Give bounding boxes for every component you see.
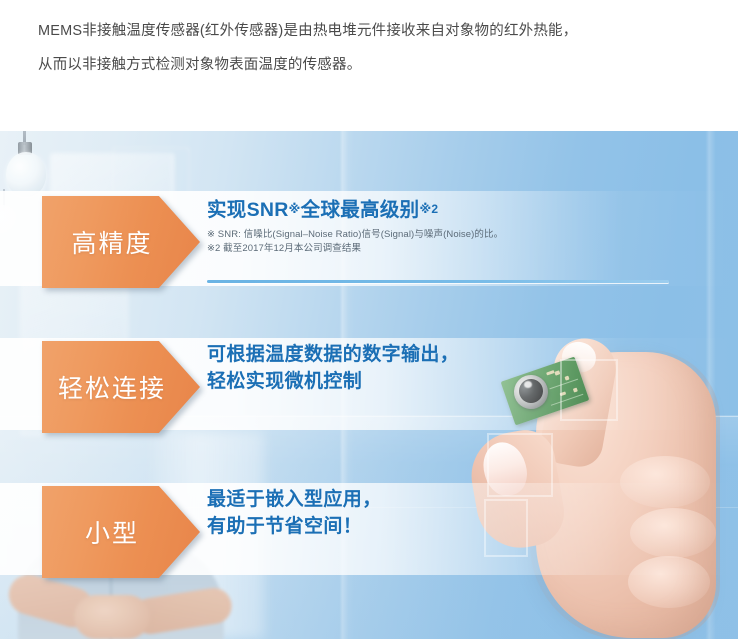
feature-row-compact: 小型 最适于嵌入型应用， 有助于节省空间！ [0, 486, 738, 578]
chevron-shape: 轻松连接 [42, 341, 200, 433]
feature-body-compact: 最适于嵌入型应用， 有助于节省空间！ [207, 486, 707, 578]
feature-row-high-accuracy: 高精度 实现SNR※全球最高级别※2 ※ SNR: 信噪比(Signal–Noi… [0, 196, 738, 288]
feature-title-line-1: 最适于嵌入型应用， [207, 486, 707, 513]
feature-badge-label: 小型 [85, 514, 157, 550]
feature-footnotes: ※ SNR: 信噪比(Signal–Noise Ratio)信号(Signal)… [207, 228, 707, 256]
intro-line-2: 从而以非接触方式检测对象物表面温度的传感器。 [38, 48, 702, 82]
footnote-mark-2: ※2 [419, 202, 438, 216]
feature-title-mid: 全球最高级别 [301, 199, 420, 221]
feature-body-easy-connection: 可根据温度数据的数字输出， 轻松实现微机控制 [207, 341, 707, 433]
chevron-shape: 高精度 [42, 196, 200, 288]
feature-divider [207, 280, 669, 283]
feature-title-main: 实现SNR [207, 199, 289, 221]
footnote-line: ※ SNR: 信噪比(Signal–Noise Ratio)信号(Signal)… [207, 228, 707, 242]
feature-badge-label: 高精度 [71, 224, 170, 260]
chevron-shape: 小型 [42, 486, 200, 578]
footnote-line: ※2 截至2017年12月本公司调查结果 [207, 242, 707, 256]
feature-badge-easy-connection[interactable]: 轻松连接 [42, 341, 200, 433]
feature-title-line-1: 可根据温度数据的数字输出， [207, 341, 707, 368]
feature-row-easy-connection: 轻松连接 可根据温度数据的数字输出， 轻松实现微机控制 [0, 341, 738, 433]
feature-badge-compact[interactable]: 小型 [42, 486, 200, 578]
feature-badge-high-accuracy[interactable]: 高精度 [42, 196, 200, 288]
intro-line-1: MEMS非接触温度传感器(红外传感器)是由热电堆元件接收来自对象物的红外热能， [38, 14, 702, 48]
person-clasped-hands [74, 595, 150, 639]
lamp-bulb-icon [6, 152, 46, 197]
page-root: MEMS非接触温度传感器(红外传感器)是由热电堆元件接收来自对象物的红外热能， … [0, 0, 738, 639]
hero-photo-region: 高精度 实现SNR※全球最高级别※2 ※ SNR: 信噪比(Signal–Noi… [0, 131, 738, 639]
intro-paragraph: MEMS非接触温度传感器(红外传感器)是由热电堆元件接收来自对象物的红外热能， … [0, 0, 738, 131]
feature-title-line-2: 有助于节省空间！ [207, 513, 707, 540]
feature-body-high-accuracy: 实现SNR※全球最高级别※2 ※ SNR: 信噪比(Signal–Noise R… [207, 196, 707, 288]
feature-badge-label: 轻松连接 [58, 369, 184, 405]
feature-title-line-2: 轻松实现微机控制 [207, 368, 707, 395]
chair-armrest [168, 621, 254, 639]
feature-title: 实现SNR※全球最高级别※2 [207, 196, 707, 223]
footnote-mark-1: ※ [289, 202, 301, 216]
